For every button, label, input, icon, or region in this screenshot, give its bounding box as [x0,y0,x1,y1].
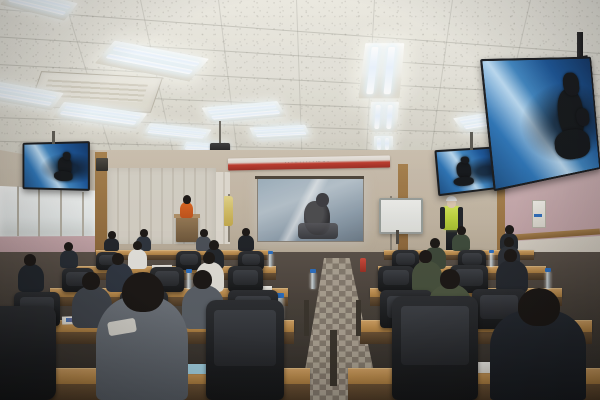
instructor-helmet-icon [446,196,457,201]
attendee-head [200,229,208,237]
attendee-head [133,241,142,250]
attendee [18,264,44,292]
desk-leg [356,300,361,336]
wall-notice-stripe [534,214,542,217]
chair [378,266,414,292]
attendee-head [430,238,440,248]
attendee-head [505,225,514,234]
water-bottle-cap [489,250,494,253]
instructor-jacket-left [440,207,445,229]
water-bottle-cap [268,251,273,254]
attendee-head [504,237,514,247]
attendee [128,249,147,269]
water-bottle-cap [186,269,192,273]
window-mullion [17,186,19,236]
attendee-head [122,272,164,312]
presenter-head [183,195,191,204]
chair [228,266,263,292]
chair [0,306,56,400]
water-bottle-cap [310,269,316,273]
ceiling-light-fixture [369,102,399,132]
attendee [60,250,78,268]
attendee-head [64,242,73,251]
attendee-head [140,229,148,237]
window-mullion [38,188,40,237]
lectern [176,216,198,242]
attendee-head [242,228,250,236]
projection-screen-frame [255,176,364,179]
tv-left [23,141,90,191]
attendee-head [112,253,124,265]
chair [206,300,284,400]
projected-content [298,223,338,239]
tv-mid-mount [470,132,473,150]
attendee-head [518,288,560,326]
attendee [104,238,119,251]
attendee-head [419,250,432,263]
attendee-head [82,272,100,290]
tv-right-screen [482,59,599,189]
whiteboard [379,198,423,234]
water-bottle [489,253,494,267]
attendee-head [440,269,460,289]
lecture-hall-photo: · · · ·· · · · · · ··· ·· · [0,0,600,400]
water-bottle [310,273,316,289]
chair [392,296,478,400]
tv-left-mount [52,131,55,144]
attendee-head [193,270,212,289]
presenter-body [180,202,193,218]
attendee [452,234,470,251]
water-bottle-cap [545,268,551,272]
desk-leg [304,300,309,336]
attendee-head [457,226,466,235]
desk-leg [330,330,337,386]
fire-extinguisher-icon [360,258,366,272]
wall-speaker-icon [96,158,108,171]
attendee-head [108,231,116,239]
tv-left-screen [24,143,88,189]
window-mullion [82,192,84,239]
window-mullion [60,190,62,238]
attendee [238,235,254,251]
projected-content [316,193,329,207]
attendee-head [203,252,215,264]
ceiling-light-fixture [358,43,404,98]
projection-screen [257,178,364,242]
projector-mount-pole [219,121,221,145]
water-bottle [268,254,273,267]
whiteboard-stand [396,230,399,244]
flag-national [224,196,233,226]
attendee-head [24,254,36,266]
water-bottle [545,272,551,289]
attendee-head [209,240,219,250]
attendee-head [504,249,517,262]
tv-right [480,57,600,192]
